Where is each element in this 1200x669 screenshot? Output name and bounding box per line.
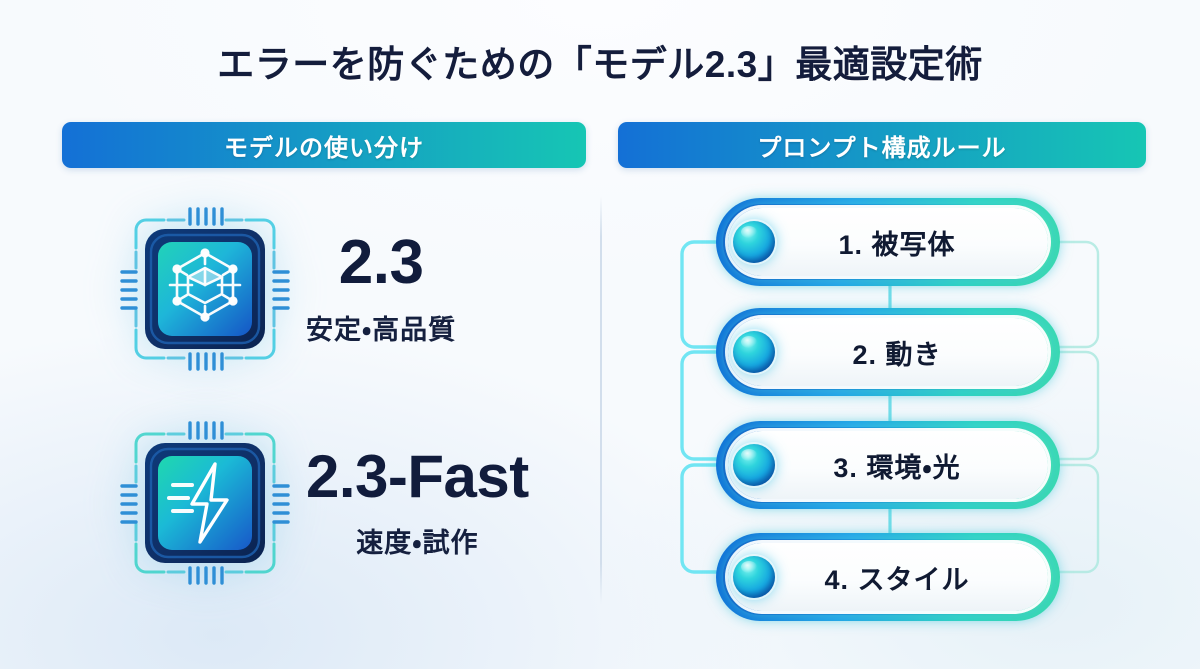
step-pill-4-label: 4. スタイル — [806, 558, 969, 597]
step-pill-4[interactable]: 4. スタイル — [728, 543, 1048, 611]
step-node-2-icon — [733, 331, 775, 373]
prompt-rule-flow: 1. 被写体 2. 動き 3. 環境・光 4. スタイル — [600, 185, 1200, 625]
model-text-block: 2.3 安定・高品質 — [306, 232, 456, 347]
step-pill-2-label: 2. 動き — [834, 333, 941, 372]
section-header-prompt-rules-label: プロンプト構成ルール — [757, 128, 1006, 163]
infographic-canvas: エラーを防ぐための「モデル2.3」最適設定術 モデルの使い分け プロンプト構成ル… — [0, 0, 1200, 669]
step-pill-3-label: 3. 環境・光 — [815, 446, 960, 485]
step-pill-2[interactable]: 2. 動き — [728, 318, 1048, 386]
section-header-models: モデルの使い分け — [62, 122, 586, 168]
chip-network-cube-icon — [112, 196, 298, 382]
step-node-4-icon — [733, 556, 775, 598]
chip-lightning-bolt-icon — [112, 410, 298, 596]
section-header-models-label: モデルの使い分け — [224, 128, 424, 163]
model-name: 2.3-Fast — [306, 447, 529, 507]
model-row: 2.3-Fast 速度・試作 — [112, 410, 529, 596]
section-header-prompt-rules: プロンプト構成ルール — [618, 122, 1146, 168]
model-row: 2.3 安定・高品質 — [112, 196, 456, 382]
model-subtitle: 速度・試作 — [356, 521, 478, 560]
step-node-1-icon — [733, 221, 775, 263]
step-node-3-icon — [733, 444, 775, 486]
step-pill-1-label: 1. 被写体 — [820, 223, 955, 262]
model-subtitle: 安定・高品質 — [306, 308, 456, 347]
model-text-block: 2.3-Fast 速度・試作 — [306, 447, 529, 560]
model-name: 2.3 — [339, 232, 424, 294]
step-pill-1[interactable]: 1. 被写体 — [728, 208, 1048, 276]
page-title: エラーを防ぐための「モデル2.3」最適設定術 — [0, 34, 1200, 88]
step-pill-3[interactable]: 3. 環境・光 — [728, 431, 1048, 499]
